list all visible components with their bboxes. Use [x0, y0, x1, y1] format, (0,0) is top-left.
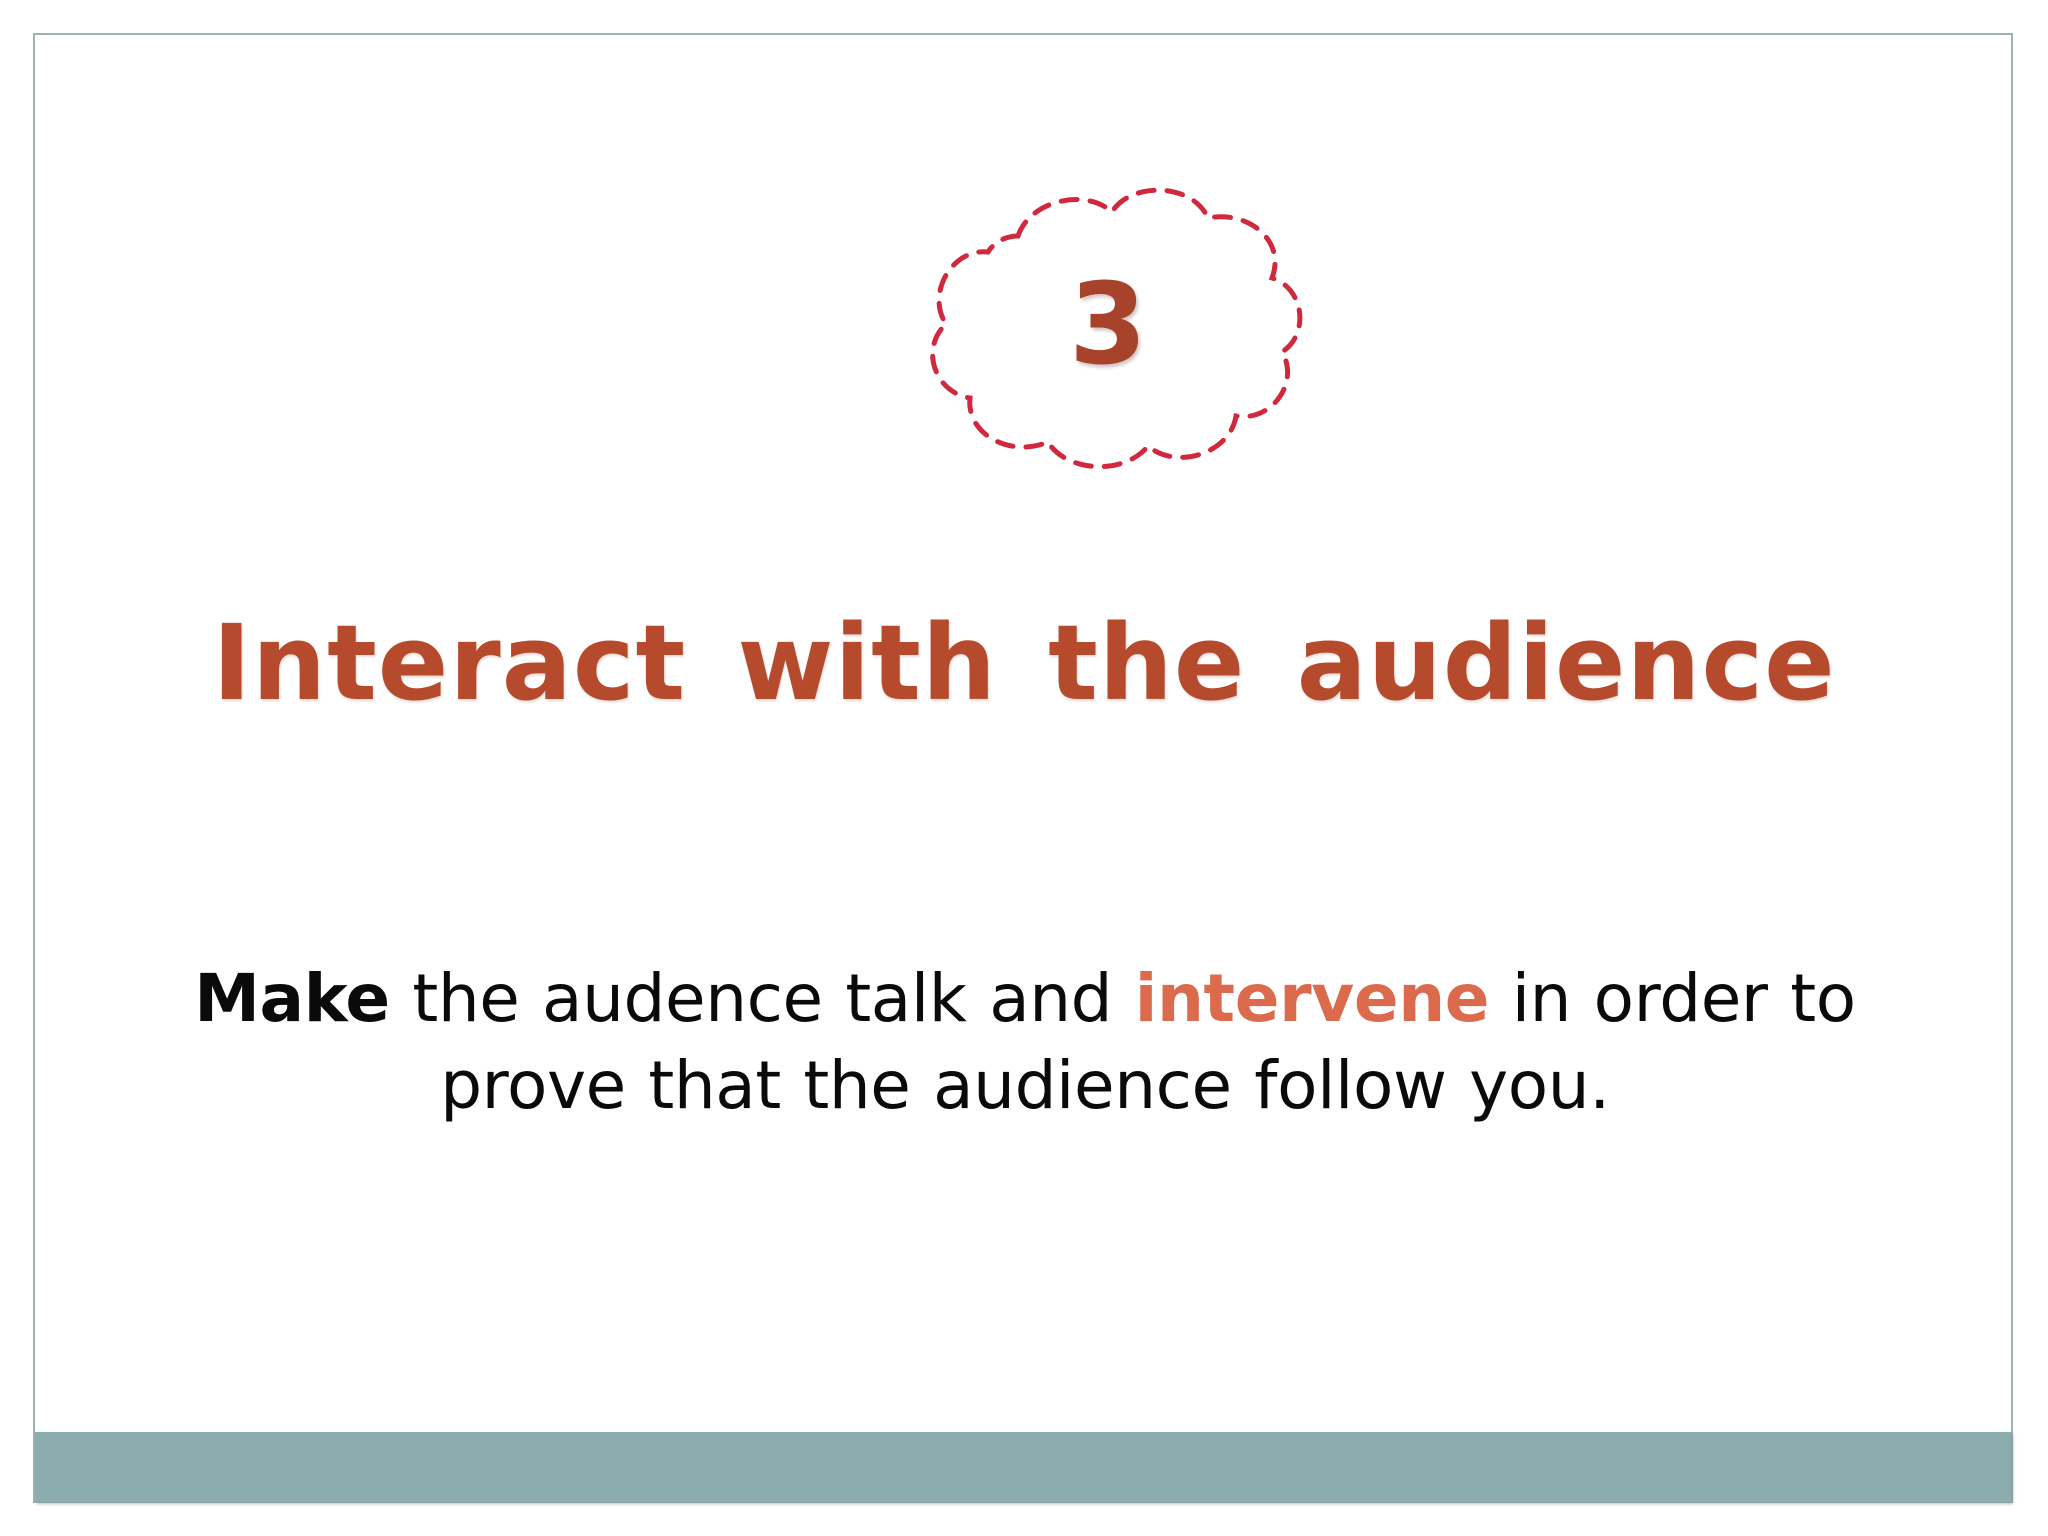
cloud-number-badge: 3	[890, 170, 1320, 480]
slide-title: Interact with the audience	[120, 605, 1928, 721]
bottom-accent-band	[35, 1432, 2011, 1502]
body-plain-1: the audence talk and	[390, 960, 1135, 1037]
body-bold-lead: Make	[194, 960, 390, 1037]
slide-body-text: Make the audence talk and intervene in o…	[190, 955, 1860, 1129]
slide-canvas: 3 Interact with the audience Make the au…	[0, 0, 2048, 1536]
body-accent-word: intervene	[1135, 960, 1489, 1037]
badge-number-label: 3	[890, 170, 1320, 480]
